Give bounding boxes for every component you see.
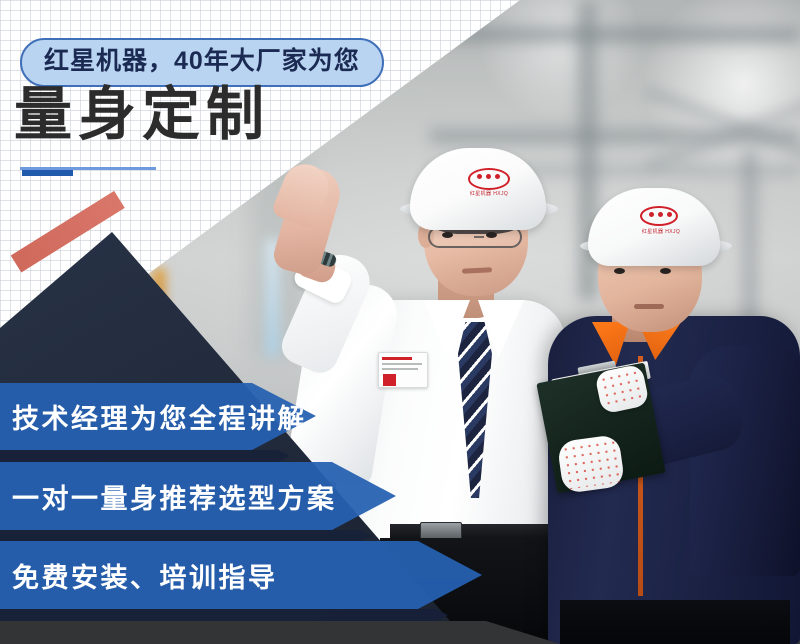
logo-dot: [658, 212, 663, 217]
steel-beam-icon: [440, 26, 800, 43]
badge-line: [382, 363, 422, 365]
technician-eye: [614, 268, 625, 274]
work-glove-icon: [557, 434, 626, 494]
promo-banner: 红星机器 HXJQ: [0, 0, 800, 644]
logo-dot: [477, 174, 482, 179]
badge-line: [382, 368, 418, 370]
logo-dot: [495, 174, 500, 179]
feature-banner-3: 免费安装、培训指导: [0, 541, 482, 609]
technician-eye: [660, 268, 671, 274]
page-title: 量身定制: [14, 86, 270, 144]
glove-grip-dots: [599, 368, 645, 410]
feature-separator: [0, 609, 448, 621]
logo-dot: [667, 212, 672, 217]
feature-separator: [0, 530, 372, 541]
company-logo-icon: 红星机器 HXJQ: [640, 206, 678, 226]
title-underline-thick: [22, 170, 73, 176]
badge-stripe: [382, 357, 412, 360]
logo-oval-shape: [468, 168, 510, 190]
logo-dot: [649, 212, 654, 217]
steel-post-icon: [742, 150, 758, 330]
tagline-pill: 红星机器，40年大厂家为您: [20, 38, 384, 87]
engineer-eye: [442, 232, 453, 238]
feature-banner-1: 技术经理为您全程讲解: [0, 383, 316, 450]
technician-mouth: [634, 304, 664, 309]
feature-banner-2: 一对一量身推荐选型方案: [0, 462, 396, 530]
technician-trousers: [560, 600, 790, 644]
logo-caption: 红星机器 HXJQ: [638, 228, 684, 235]
employee-id-badge: [378, 352, 428, 388]
engineer-eye: [486, 232, 497, 238]
glove-grip-dots: [561, 438, 621, 489]
company-logo-icon: 红星机器 HXJQ: [468, 168, 510, 190]
footer-band: [0, 621, 560, 644]
feature-separator: [0, 450, 290, 462]
badge-logo-mark: [383, 374, 396, 386]
logo-caption: 红星机器 HXJQ: [466, 190, 512, 197]
logo-dot: [486, 174, 491, 179]
